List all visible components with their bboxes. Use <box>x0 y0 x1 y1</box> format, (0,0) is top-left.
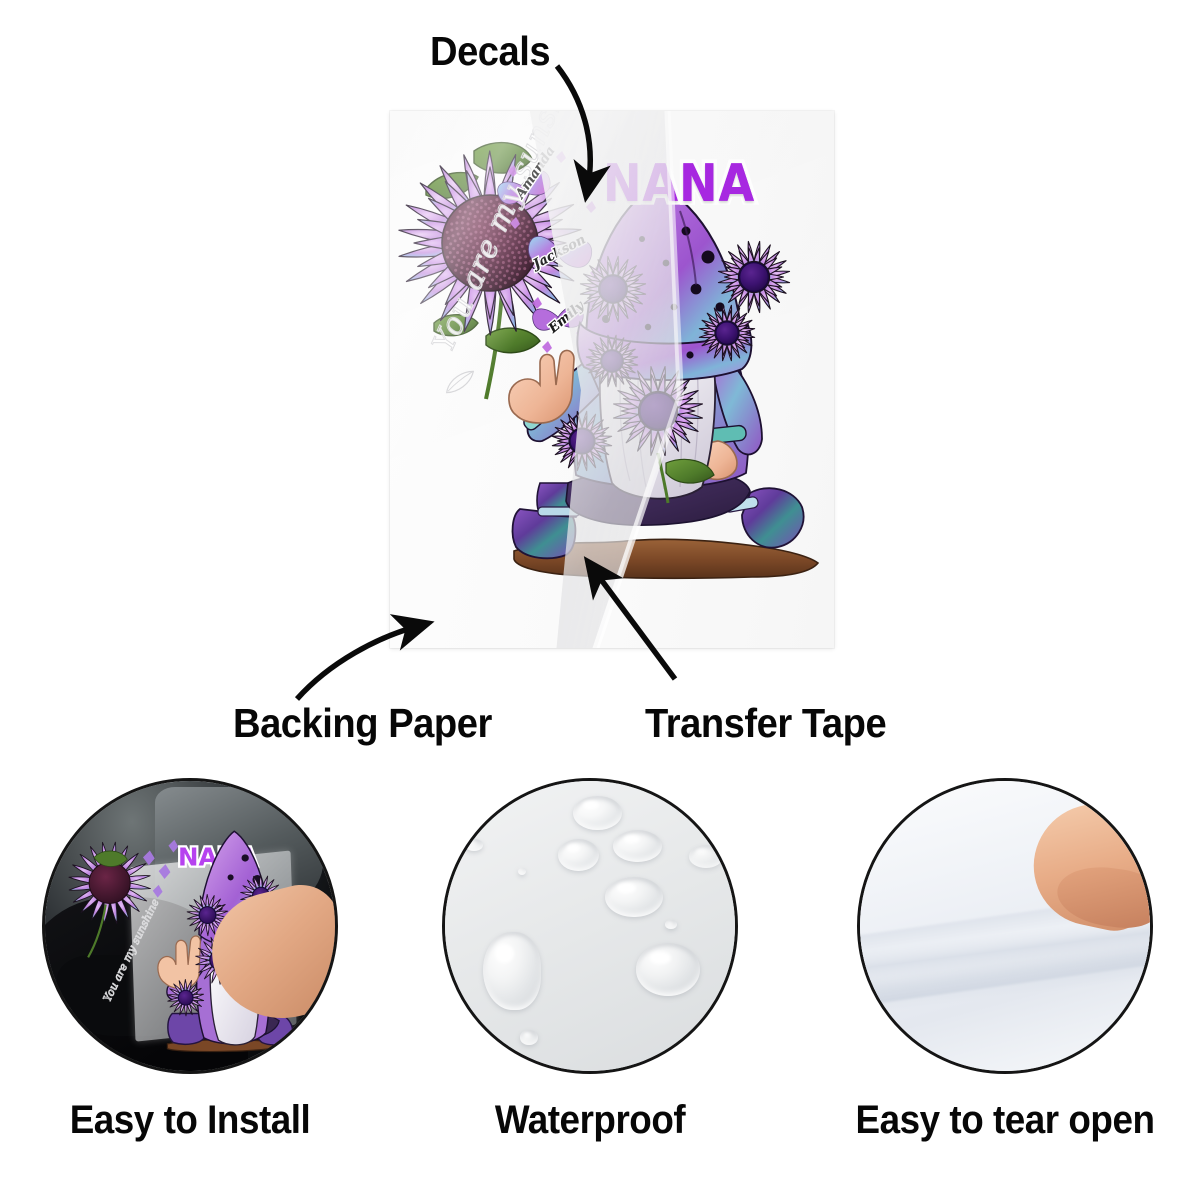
callout-label-transfer-tape: Transfer Tape <box>645 700 886 747</box>
callout-label-decals: Decals <box>430 28 550 75</box>
feature-waterproof: Waterproof <box>420 778 760 1143</box>
mini-sunshine-watermark: You are my sunshine <box>101 897 162 1004</box>
feature-photo-easy-to-tear-open <box>857 778 1153 1074</box>
feature-row: NANA <box>0 778 1200 1198</box>
feature-photo-easy-to-install: NANA <box>42 778 338 1074</box>
decal-sheet: You are my sunshine NANA NANA Amanda Ama… <box>390 111 834 648</box>
feature-caption-easy-to-install: Easy to Install <box>34 1098 347 1143</box>
callout-label-backing-paper: Backing Paper <box>233 700 492 747</box>
feature-photo-waterproof <box>442 778 738 1074</box>
feature-caption-waterproof: Waterproof <box>434 1098 747 1143</box>
feature-caption-easy-to-tear-open: Easy to tear open <box>849 1098 1162 1143</box>
feature-easy-to-tear-open: Easy to tear open <box>835 778 1175 1143</box>
feature-easy-to-install: NANA <box>20 778 360 1143</box>
infographic-canvas: Decals Backing Paper Transfer Tape <box>0 0 1200 1200</box>
